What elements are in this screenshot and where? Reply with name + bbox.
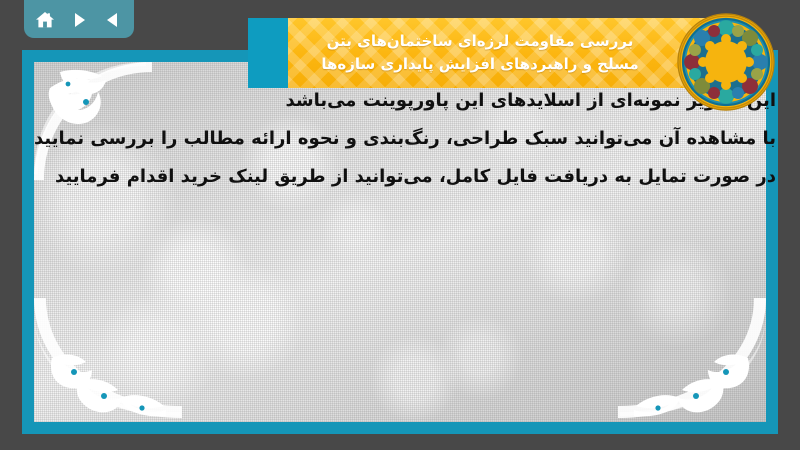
navigation-bar	[24, 0, 134, 38]
slide-viewer: این تصویر نمونه‌ای از اسلایدهای این پاور…	[0, 0, 800, 450]
back-arrow-icon	[104, 11, 122, 29]
body-line-2: با مشاهده آن می‌توانید سبک طراحی، رنگ‌بن…	[116, 120, 776, 158]
persian-medallion-icon	[676, 12, 776, 112]
home-button[interactable]	[35, 10, 55, 30]
corner-ornament-bottom-left-icon	[34, 298, 184, 422]
banner-left-cap	[248, 18, 288, 88]
body-line-3: در صورت تمایل به دریافت فایل کامل، می‌تو…	[116, 158, 776, 196]
title-line-1: بررسی مقاومت لرزه‌ای ساختمان‌های بتن	[327, 30, 634, 53]
forward-button[interactable]	[69, 10, 89, 30]
banner-body: بررسی مقاومت لرزه‌ای ساختمان‌های بتن مسل…	[288, 18, 708, 88]
title-line-2: مسلح و راهبردهای افزایش پایداری سازه‌ها	[321, 53, 638, 76]
home-icon	[35, 10, 55, 30]
back-button[interactable]	[103, 10, 123, 30]
forward-arrow-icon	[70, 11, 88, 29]
corner-ornament-bottom-right-icon	[616, 298, 766, 422]
title-banner: بررسی مقاومت لرزه‌ای ساختمان‌های بتن مسل…	[248, 18, 708, 88]
